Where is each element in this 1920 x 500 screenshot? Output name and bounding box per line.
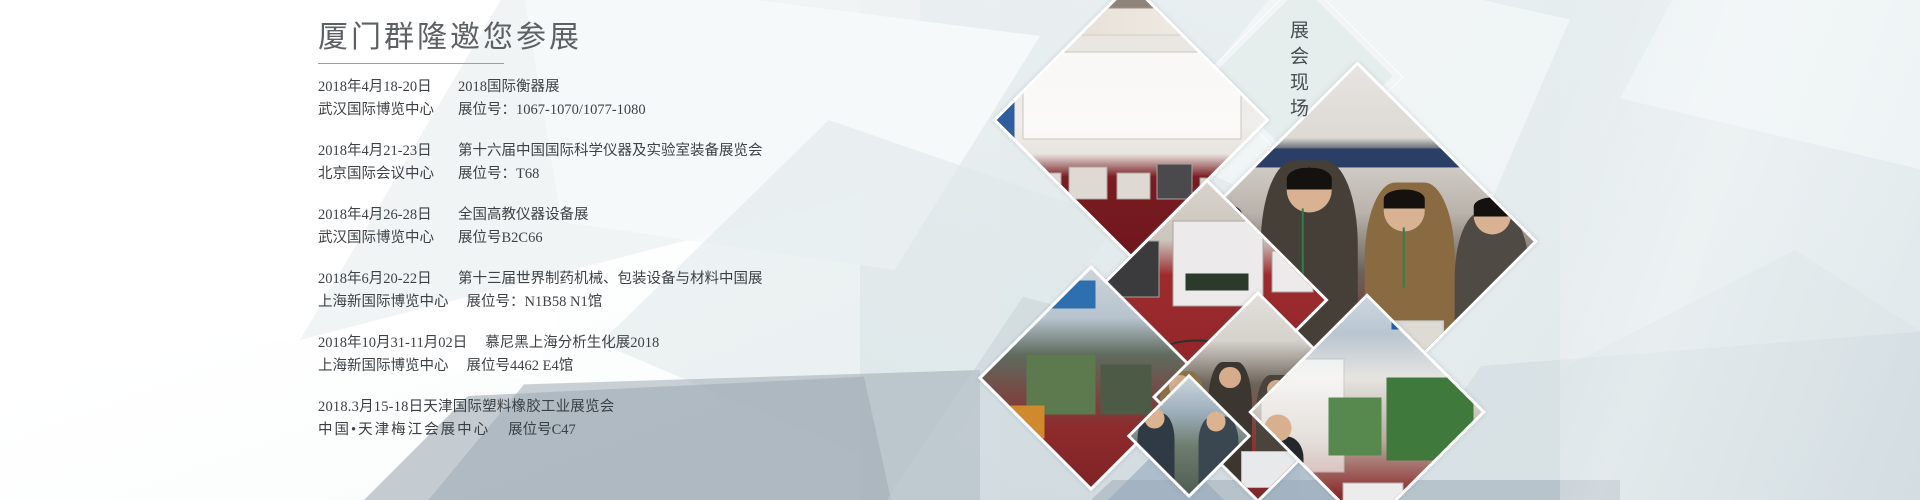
event-venue: 武汉国际博览中心	[318, 227, 440, 250]
photo-detail	[1402, 227, 1404, 287]
photo-detail	[1343, 483, 1403, 500]
event-line-primary: 2018年6月20-22日 第十三届世界制药机械、包装设备与材料中国展	[318, 268, 1018, 291]
photo-detail	[1193, 148, 1522, 167]
booth-banner-text: 密度计&水分仪中国供应商 厦门群隆仪器有限公司 Xiamen Qun long …	[1017, 12, 1245, 35]
booth-banner-title: 密度计&水分仪中国供应商	[1084, 12, 1178, 20]
event-booth: 展位号：N1B58 N1馆	[467, 291, 603, 314]
event-venue: 上海新国际博览中心	[318, 355, 449, 378]
event-booth: 展位号B2C66	[458, 227, 543, 250]
photo-detail	[1023, 52, 1242, 140]
photo-detail	[1287, 167, 1332, 189]
event-date-and-name: 2018.3月15-18日天津国际塑料橡胶工业展览会	[318, 396, 614, 419]
page-title: 厦门群隆邀您参展	[318, 18, 1018, 57]
photo-detail	[1172, 220, 1264, 307]
event-item: 2018年10月31-11月02日 慕尼黑上海分析生化展2018 上海新国际博览…	[318, 332, 1018, 379]
event-venue: 中国•天津梅江会展中心	[318, 419, 490, 442]
event-line-primary: 2018年4月21-23日 第十六届中国国际科学仪器及实验室装备展览会	[318, 140, 1018, 163]
event-booth: 展位号4462 E4馆	[467, 355, 574, 378]
photo-detail	[1384, 189, 1425, 208]
booth-company-name: 厦门群隆仪器有限公司	[1017, 20, 1245, 26]
right-sheen-overlay	[1560, 0, 1920, 500]
photo-detail	[1301, 208, 1303, 275]
background-facet-j	[1560, 250, 1920, 500]
event-date: 2018年4月21-23日	[318, 140, 440, 163]
photo-detail	[1100, 364, 1151, 415]
exhibition-list: 厦门群隆邀您参展 2018年4月18-20日 2018国际衡器展 武汉国际博览中…	[318, 18, 1018, 460]
event-date: 2018年4月18-20日	[318, 76, 440, 99]
event-item: 2018年4月18-20日 2018国际衡器展 武汉国际博览中心 展位号：106…	[318, 76, 1018, 123]
event-item: 2018年6月20-22日 第十三届世界制药机械、包装设备与材料中国展 上海新国…	[318, 268, 1018, 315]
background-facet-i	[1620, 0, 1920, 270]
event-venue: 武汉国际博览中心	[318, 99, 440, 122]
event-line-primary: 2018年4月26-28日 全国高教仪器设备展	[318, 204, 1018, 227]
event-booth: 展位号：1067-1070/1077-1080	[458, 99, 646, 122]
event-item: 2018年4月21-23日 第十六届中国国际科学仪器及实验室装备展览会 北京国际…	[318, 140, 1018, 187]
event-line-primary: 2018年10月31-11月02日 慕尼黑上海分析生化展2018	[318, 332, 1018, 355]
event-item: 2018年4月26-28日 全国高教仪器设备展 武汉国际博览中心 展位号B2C6…	[318, 204, 1018, 251]
event-line-secondary: 武汉国际博览中心 展位号B2C66	[318, 227, 1018, 250]
photo-detail	[1028, 172, 1061, 200]
event-date: 2018年4月26-28日	[318, 204, 440, 227]
photo-detail	[1455, 212, 1530, 406]
event-name: 第十三届世界制药机械、包装设备与材料中国展	[458, 268, 763, 291]
event-line-secondary: 中国•天津梅江会展中心 展位号C47	[318, 419, 1018, 442]
title-underline	[318, 63, 504, 64]
event-line-secondary: 武汉国际博览中心 展位号：1067-1070/1077-1080	[318, 99, 1018, 122]
photo-detail	[1117, 172, 1150, 200]
event-line-secondary: 上海新国际博览中心 展位号：N1B58 N1馆	[318, 291, 1018, 314]
event-name: 2018国际衡器展	[458, 76, 560, 99]
event-line-secondary: 上海新国际博览中心 展位号4462 E4馆	[318, 355, 1018, 378]
event-line-secondary: 北京国际会议中心 展位号：T68	[318, 163, 1018, 186]
event-booth: 展位号：T68	[458, 163, 539, 186]
photo-detail	[1206, 411, 1226, 431]
photo-detail	[1219, 367, 1241, 389]
event-venue: 北京国际会议中心	[318, 163, 440, 186]
event-venue: 上海新国际博览中心	[318, 291, 449, 314]
event-name: 全国高教仪器设备展	[458, 204, 589, 227]
event-line-primary: 2018年4月18-20日 2018国际衡器展	[318, 76, 1018, 99]
photo-detail	[1328, 397, 1381, 455]
photo-detail	[1473, 197, 1510, 216]
photo-detail	[1157, 164, 1193, 200]
banner-stage: 厦门群隆邀您参展 2018年4月18-20日 2018国际衡器展 武汉国际博览中…	[0, 0, 1920, 500]
photo-collage: 密度计&水分仪中国供应商 厦门群隆仪器有限公司 Xiamen Qun long …	[1025, 0, 1495, 500]
photo-detail	[1386, 378, 1473, 461]
event-date: 2018年10月31-11月02日	[318, 332, 467, 355]
event-name: 第十六届中国国际科学仪器及实验室装备展览会	[458, 140, 763, 163]
photo-detail	[1068, 166, 1107, 199]
event-date: 2018年6月20-22日	[318, 268, 440, 291]
event-name: 慕尼黑上海分析生化展2018	[485, 332, 659, 355]
booth-company-name-en: Xiamen Qun long Instrument Co., Ltd.	[1017, 26, 1245, 32]
event-item: 2018.3月15-18日天津国际塑料橡胶工业展览会 中国•天津梅江会展中心 展…	[318, 396, 1018, 443]
event-line-primary: 2018.3月15-18日天津国际塑料橡胶工业展览会	[318, 396, 1018, 419]
vertical-section-label: 展会现场	[1284, 20, 1311, 124]
event-booth: 展位号C47	[508, 419, 576, 442]
